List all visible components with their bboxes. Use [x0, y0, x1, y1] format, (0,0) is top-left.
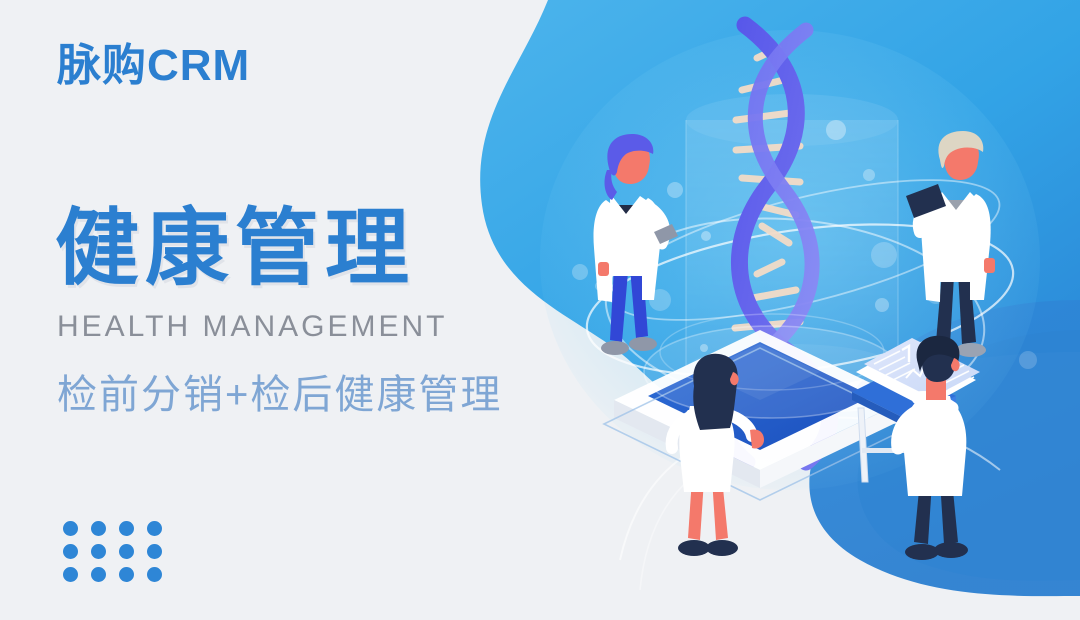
decorative-dot-grid	[63, 521, 175, 590]
page-title: 健康管理	[55, 206, 415, 290]
banner-root: 脉购CRM 健康管理 HEALTH MANAGEMENT 检前分销+检后健康管理	[0, 0, 1080, 620]
decorative-dot	[63, 521, 78, 536]
decorative-dot	[119, 567, 134, 582]
decorative-dot	[91, 521, 106, 536]
decorative-dot	[91, 567, 106, 582]
brand-logo: 脉购CRM	[57, 44, 250, 88]
page-subtitle: HEALTH MANAGEMENT	[57, 312, 447, 342]
decorative-dot	[119, 544, 134, 559]
page-tagline: 检前分销+检后健康管理	[57, 375, 502, 415]
decorative-dot	[147, 544, 162, 559]
decorative-dot	[63, 567, 78, 582]
decorative-dot	[63, 544, 78, 559]
decorative-dot	[147, 521, 162, 536]
decorative-dot	[91, 544, 106, 559]
decorative-dot	[119, 521, 134, 536]
decorative-dot	[147, 567, 162, 582]
